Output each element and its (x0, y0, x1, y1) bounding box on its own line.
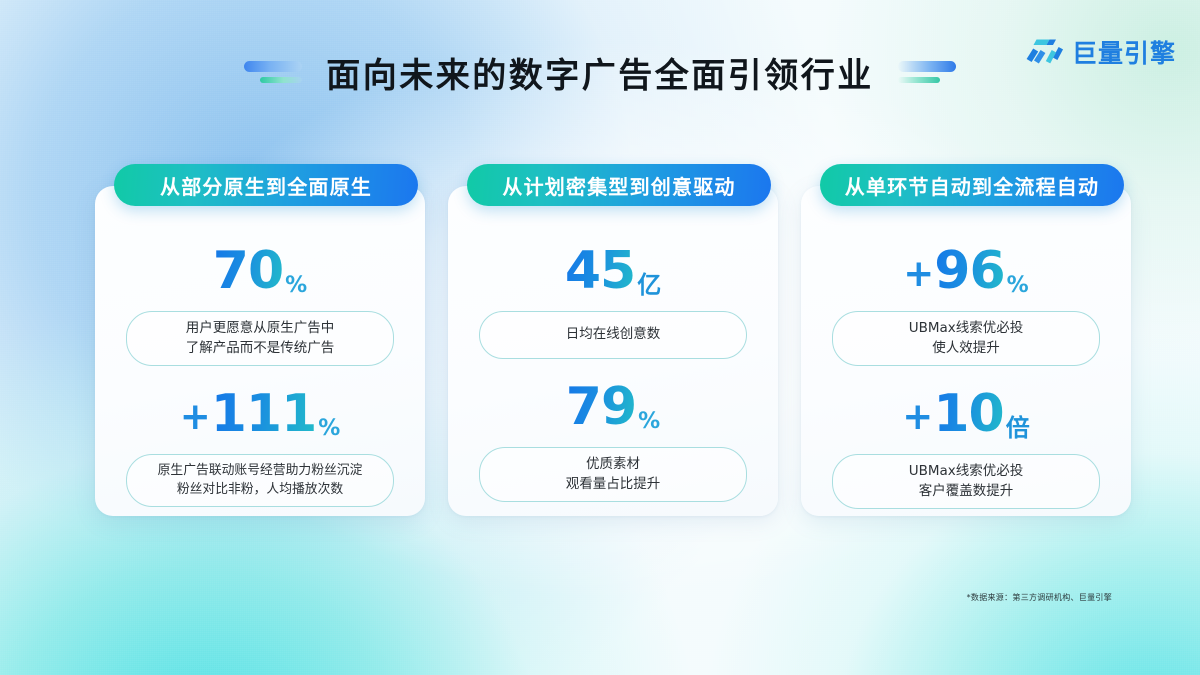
description-line: 优质素材 (586, 455, 640, 475)
description-line: 用户更愿意从原生广告中 (186, 319, 335, 339)
slide-canvas: 巨量引擎 面向未来的数字广告全面引领行业 从部分原生到全面原生 70% 用户更愿… (0, 0, 1200, 675)
stat-card: 从部分原生到全面原生 70% 用户更愿意从原生广告中 了解产品而不是传统广告 +… (95, 186, 425, 516)
stat-value: +111% (95, 388, 425, 440)
card-header-pill: 从部分原生到全面原生 (114, 164, 418, 206)
stat-prefix: + (903, 252, 934, 295)
stat-value: 70% (95, 245, 425, 297)
stat-prefix: + (180, 395, 211, 438)
stat-block: +10倍 UBMax线索优必投 客户覆盖数提升 (801, 366, 1131, 509)
description-line: 粉丝对比非粉，人均播放次数 (177, 481, 343, 500)
stat-number: 111 (211, 384, 317, 444)
data-source-footnote: *数据来源：第三方调研机构、巨量引擎 (967, 592, 1112, 603)
stat-block: 79% 优质素材 观看量占比提升 (448, 359, 778, 502)
page-title: 面向未来的数字广告全面引领行业 (326, 48, 874, 97)
stat-unit: % (318, 416, 340, 441)
card-header-pill: 从计划密集型到创意驱动 (467, 164, 771, 206)
stat-description: UBMax线索优必投 使人效提升 (832, 311, 1100, 366)
stat-unit: 亿 (637, 271, 661, 299)
description-line: 观看量占比提升 (566, 475, 661, 495)
stat-prefix: + (902, 395, 933, 438)
stat-number: 79 (566, 377, 636, 437)
description-line: 使人效提升 (932, 339, 1000, 359)
stat-description: 日均在线创意数 (479, 311, 747, 359)
stat-number: 70 (213, 241, 283, 301)
description-line: 了解产品而不是传统广告 (186, 339, 335, 359)
stat-unit: 倍 (1006, 414, 1030, 442)
stat-value: 45亿 (448, 245, 778, 297)
stat-value: +10倍 (801, 388, 1131, 440)
stat-block: 70% 用户更愿意从原生广告中 了解产品而不是传统广告 (95, 232, 425, 366)
stat-number: 96 (934, 241, 1004, 301)
stat-number: 10 (933, 384, 1003, 444)
description-line: 客户覆盖数提升 (919, 482, 1014, 502)
stat-number: 45 (565, 241, 635, 301)
stat-block: +96% UBMax线索优必投 使人效提升 (801, 232, 1131, 366)
stat-unit: % (1007, 273, 1029, 298)
title-decoration-right-icon (890, 55, 956, 91)
card-header-pill: 从单环节自动到全流程自动 (820, 164, 1124, 206)
description-line: UBMax线索优必投 (909, 319, 1024, 339)
stat-block: +111% 原生广告联动账号经营助力粉丝沉淀 粉丝对比非粉，人均播放次数 (95, 366, 425, 507)
stat-unit: % (285, 273, 307, 298)
stat-card: 从单环节自动到全流程自动 +96% UBMax线索优必投 使人效提升 +10倍 … (801, 186, 1131, 516)
stat-description: 原生广告联动账号经营助力粉丝沉淀 粉丝对比非粉，人均播放次数 (126, 454, 394, 507)
stat-description: 优质素材 观看量占比提升 (479, 447, 747, 502)
stat-cards-container: 从部分原生到全面原生 70% 用户更愿意从原生广告中 了解产品而不是传统广告 +… (95, 186, 1131, 516)
card-header-label: 从计划密集型到创意驱动 (502, 171, 735, 200)
page-title-row: 面向未来的数字广告全面引领行业 (0, 48, 1200, 97)
stat-description: UBMax线索优必投 客户覆盖数提升 (832, 454, 1100, 509)
stat-description: 用户更愿意从原生广告中 了解产品而不是传统广告 (126, 311, 394, 366)
stat-card: 从计划密集型到创意驱动 45亿 日均在线创意数 79% 优质素材 观看量占比提升 (448, 186, 778, 516)
stat-value: +96% (801, 245, 1131, 297)
description-line: 原生广告联动账号经营助力粉丝沉淀 (158, 462, 363, 481)
stat-unit: % (638, 409, 660, 434)
description-line: 日均在线创意数 (566, 325, 661, 345)
card-header-label: 从单环节自动到全流程自动 (845, 171, 1099, 200)
stat-value: 79% (448, 381, 778, 433)
card-header-label: 从部分原生到全面原生 (160, 171, 372, 200)
description-line: UBMax线索优必投 (909, 462, 1024, 482)
title-decoration-left-icon (244, 55, 310, 91)
stat-block: 45亿 日均在线创意数 (448, 232, 778, 359)
